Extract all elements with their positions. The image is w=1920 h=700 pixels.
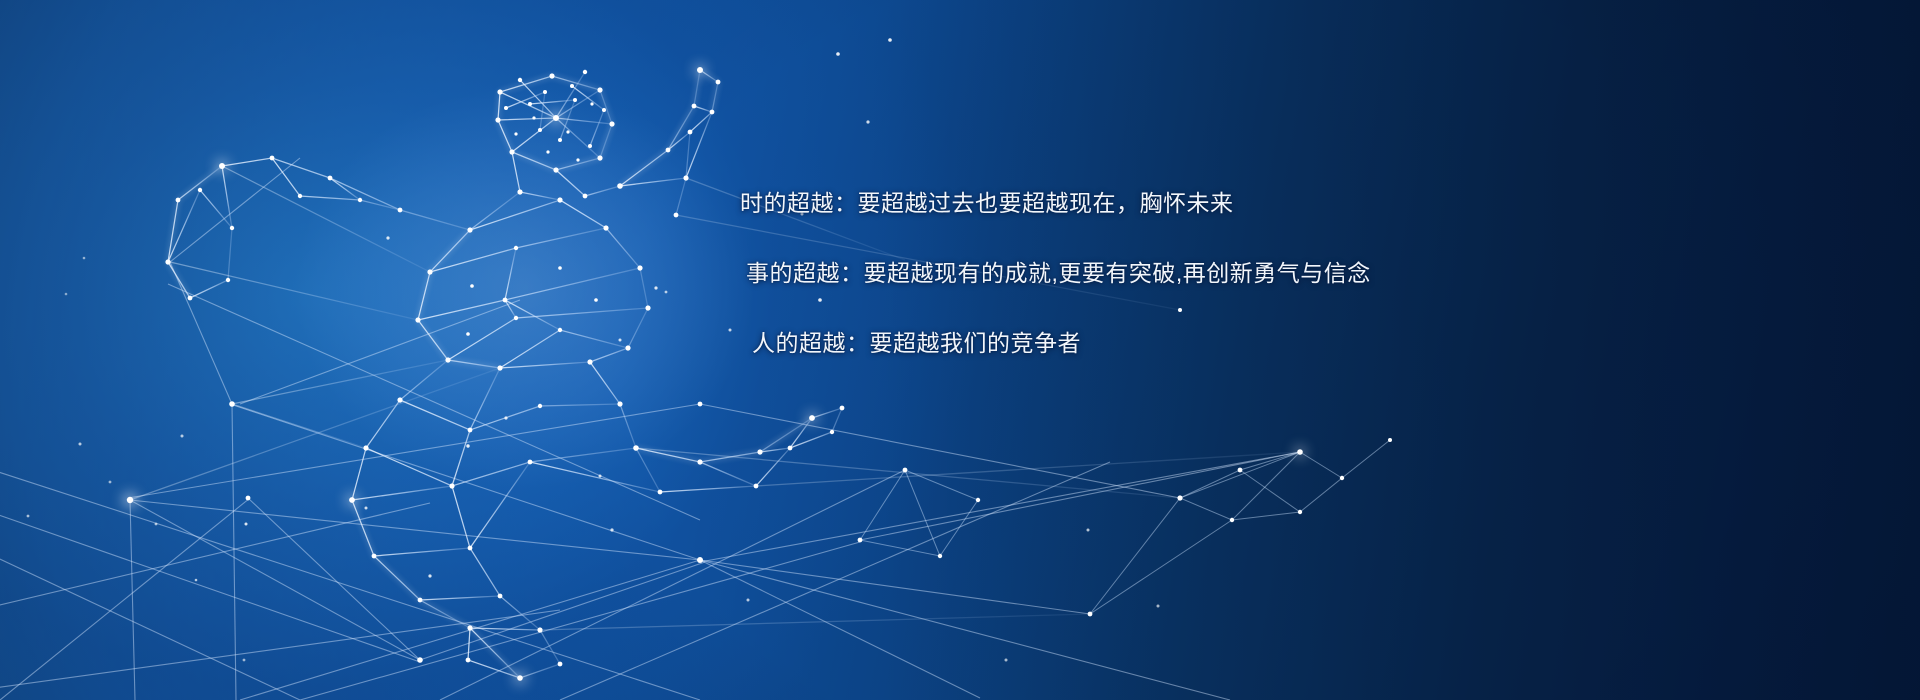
runner-wireframe-lines	[130, 70, 1300, 678]
figure-bloom	[168, 70, 812, 678]
slogan-line-3: 人的超越：要超越我们的竞争者	[752, 328, 1500, 359]
network-nodes	[27, 38, 1392, 700]
slogan-line-2: 事的超越：要超越现有的成就,更要有突破,再创新勇气与信念	[746, 258, 1500, 289]
slogan-block: 时的超越：要超越过去也要超越现在，胸怀未来 事的超越：要超越现有的成就,更要有突…	[740, 188, 1500, 359]
slogan-line-1: 时的超越：要超越过去也要超越现在，胸怀未来	[740, 188, 1500, 219]
hero-banner: 时的超越：要超越过去也要超越现在，胸怀未来 事的超越：要超越现有的成就,更要有突…	[0, 0, 1920, 700]
secondary-network-cluster	[860, 440, 1390, 614]
